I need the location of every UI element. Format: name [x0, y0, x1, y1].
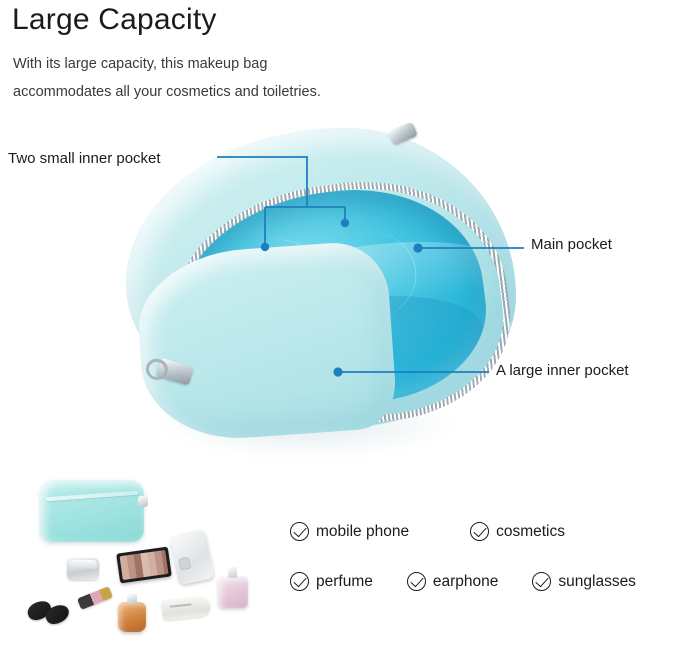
checklist-label: cosmetics	[496, 523, 565, 541]
callout-label-main-pocket: Main pocket	[531, 236, 612, 253]
checklist-row-1: mobile phone cosmetics	[290, 522, 591, 541]
circled-check-icon	[470, 522, 489, 541]
infographic-page: Large Capacity With its large capacity, …	[0, 0, 679, 651]
circled-check-icon	[407, 572, 426, 591]
checklist-label: perfume	[316, 573, 373, 591]
checklist-item-cosmetics: cosmetics	[470, 522, 565, 541]
checklist-item-earphone: earphone	[407, 572, 499, 591]
circled-check-icon	[532, 572, 551, 591]
flatlay-mobile-phone	[169, 529, 215, 585]
makeup-bag-hero-photo	[118, 120, 538, 490]
flatlay-sunglasses	[26, 596, 76, 630]
flatlay-perfume-pink	[218, 576, 248, 608]
page-title: Large Capacity	[12, 0, 217, 40]
circled-check-icon	[290, 572, 309, 591]
flatlay-contents-photo	[22, 472, 284, 644]
callout-label-two-small-inner-pocket: Two small inner pocket	[8, 150, 161, 167]
checklist-label: earphone	[433, 573, 499, 591]
checklist-row-2: perfume earphone sunglasses	[290, 572, 636, 591]
checklist-item-sunglasses: sunglasses	[532, 572, 636, 591]
flatlay-eyeshadow-palette	[116, 547, 172, 584]
flatlay-cosmetic-tube	[161, 596, 211, 621]
page-subtitle: With its large capacity, this makeup bag…	[13, 50, 321, 106]
checklist-item-perfume: perfume	[290, 572, 373, 591]
flatlay-lipstick	[77, 586, 113, 610]
flatlay-compact-powder	[67, 558, 99, 580]
checklist-item-mobile-phone: mobile phone	[290, 522, 409, 541]
checklist-label: mobile phone	[316, 523, 409, 541]
flatlay-makeup-bag	[40, 480, 144, 542]
checklist-label: sunglasses	[558, 573, 636, 591]
callout-label-large-inner-pocket: A large inner pocket	[496, 362, 629, 379]
flatlay-perfume-amber	[118, 602, 146, 632]
circled-check-icon	[290, 522, 309, 541]
